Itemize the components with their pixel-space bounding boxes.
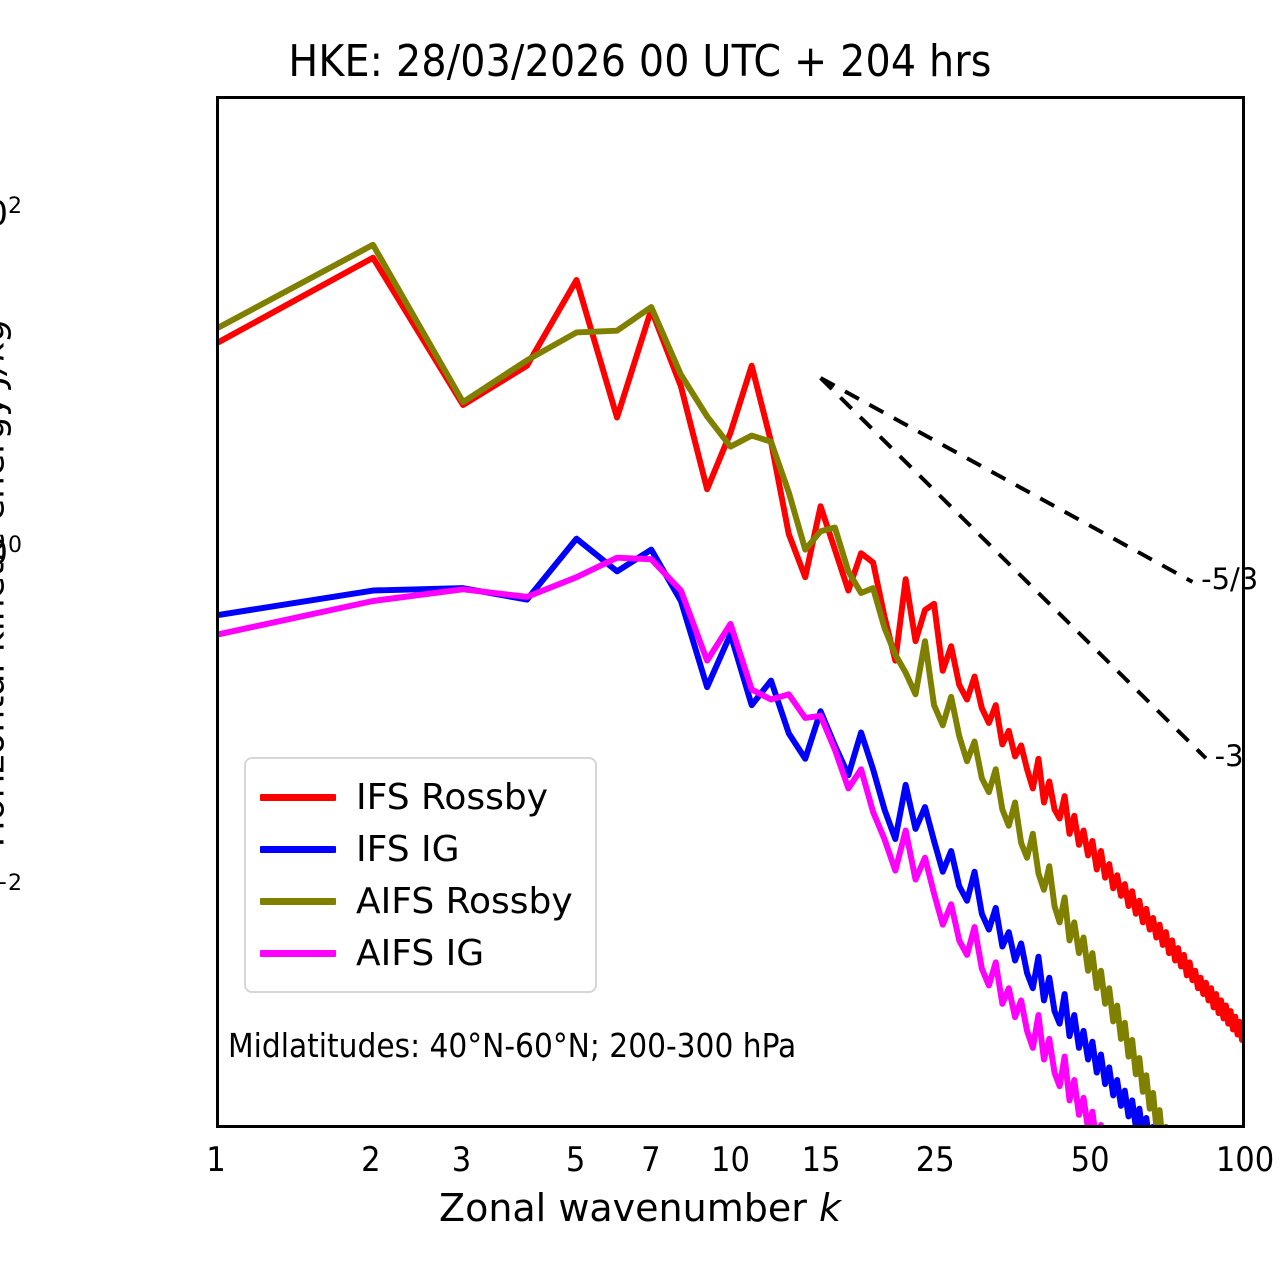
x-axis-symbol: k xyxy=(819,1186,841,1230)
legend-item-ifs-ig[interactable]: IFS IG xyxy=(260,823,573,875)
x-tick-label-2: 2 xyxy=(361,1140,380,1180)
reference-line-label-3: -3 xyxy=(1215,739,1244,773)
x-axis-label-text: Zonal wavenumber xyxy=(439,1186,819,1230)
y-axis-label-text: Horizontal kinetic energy xyxy=(0,384,13,847)
y-tick-exponent: 0 xyxy=(8,533,22,558)
legend-label: IFS Rossby xyxy=(356,777,548,818)
x-tick-label-100: 100 xyxy=(1216,1140,1274,1180)
legend-item-ifs-rossby[interactable]: IFS Rossby xyxy=(260,771,573,823)
x-tick-label-10: 10 xyxy=(711,1140,750,1180)
reference-line-53 xyxy=(821,378,1193,582)
x-tick-label-1: 1 xyxy=(206,1140,225,1180)
region-annotation: Midlatitudes: 40°N-60°N; 200-300 hPa xyxy=(228,1026,796,1065)
legend-swatch-icon xyxy=(260,846,336,853)
legend-item-aifs-rossby[interactable]: AIFS Rossby xyxy=(260,875,573,927)
y-tick-label-2: 10−2 xyxy=(0,871,22,911)
x-tick-label-5: 5 xyxy=(566,1140,585,1180)
y-tick-label-0: 102 xyxy=(0,194,22,234)
x-tick-label-50: 50 xyxy=(1071,1140,1110,1180)
legend-item-aifs-ig[interactable]: AIFS IG xyxy=(260,927,573,979)
x-axis-label: Zonal wavenumber k xyxy=(0,1186,1280,1230)
y-tick-exponent: 2 xyxy=(8,194,22,219)
legend-swatch-icon xyxy=(260,794,336,801)
legend-swatch-icon xyxy=(260,950,336,957)
y-tick-label-1: 100 xyxy=(0,533,22,573)
legend: IFS RossbyIFS IGAIFS RossbyAIFS IG xyxy=(244,757,597,993)
reference-line-3 xyxy=(821,378,1206,758)
x-tick-label-3: 3 xyxy=(452,1140,471,1180)
reference-line-label-53: -5/3 xyxy=(1201,562,1258,596)
x-tick-label-7: 7 xyxy=(641,1140,660,1180)
x-tick-label-15: 15 xyxy=(802,1140,841,1180)
y-axis-unit: J/kg xyxy=(0,318,13,384)
legend-label: AIFS Rossby xyxy=(356,881,573,922)
legend-label: AIFS IG xyxy=(356,933,484,974)
legend-swatch-icon xyxy=(260,898,336,905)
legend-label: IFS IG xyxy=(356,829,460,870)
figure: HKE: 28/03/2026 00 UTC + 204 hrs Horizon… xyxy=(0,0,1280,1288)
page-title: HKE: 28/03/2026 00 UTC + 204 hrs xyxy=(0,36,1280,87)
y-tick-exponent: −2 xyxy=(0,871,22,896)
x-tick-label-25: 25 xyxy=(916,1140,955,1180)
